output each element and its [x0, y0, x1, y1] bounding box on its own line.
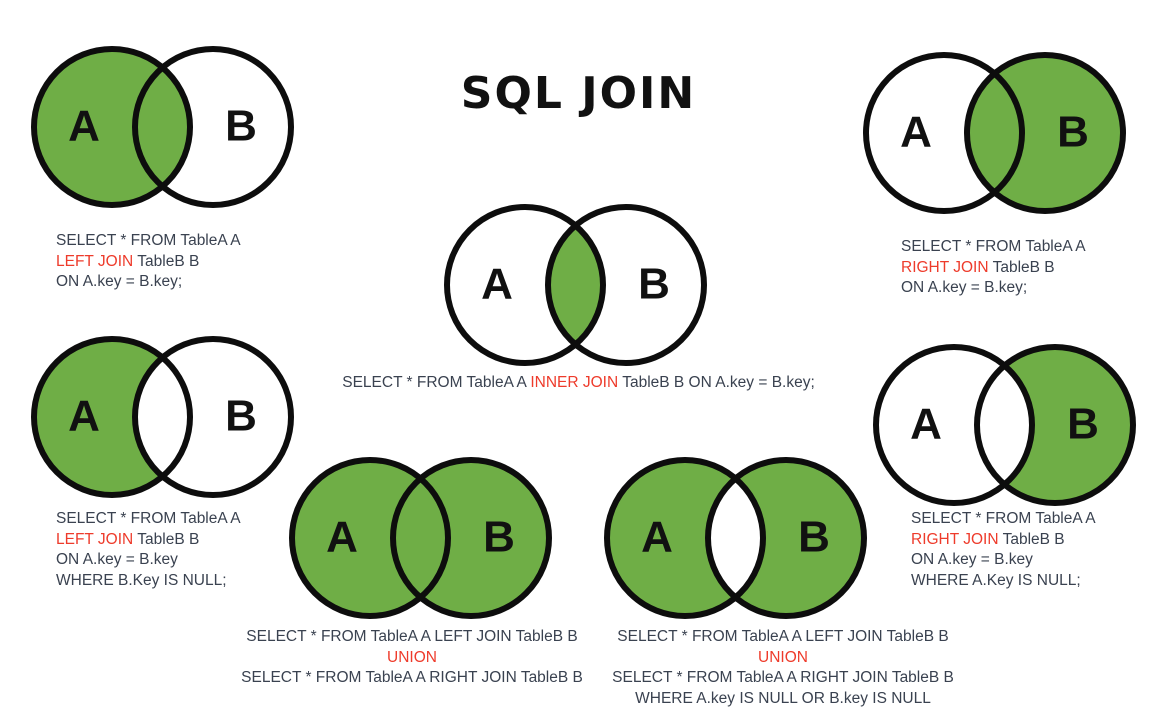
venn-left-excluding-join: AB	[30, 322, 295, 512]
sql-keyword: LEFT JOIN	[56, 531, 133, 548]
sql-keyword: LEFT JOIN	[56, 253, 133, 270]
sql-text: TableB B	[999, 531, 1065, 548]
set-label-a: A	[68, 102, 100, 151]
caption-line: SELECT * FROM TableA A RIGHT JOIN TableB…	[228, 668, 596, 689]
sql-text: WHERE A.Key IS NULL;	[911, 572, 1081, 589]
sql-text: ON A.key = B.key	[911, 551, 1033, 568]
set-label-a: A	[481, 260, 513, 309]
sql-keyword: RIGHT JOIN	[901, 259, 989, 276]
sql-keyword: INNER JOIN	[530, 374, 618, 391]
sql-text: SELECT * FROM TableA A RIGHT JOIN TableB…	[241, 669, 583, 686]
sql-join-infographic: SQL JOIN AB AB AB AB AB AB AB SELECT * F…	[0, 0, 1157, 716]
sql-text: ON A.key = B.key;	[56, 273, 182, 290]
sql-text: SELECT * FROM TableA A LEFT JOIN TableB …	[617, 628, 948, 645]
caption-line: ON A.key = B.key;	[56, 272, 241, 293]
sql-text: WHERE A.key IS NULL OR B.key IS NULL	[635, 690, 931, 707]
venn-full-outer-join: AB	[288, 443, 553, 633]
set-label-b: B	[638, 260, 670, 309]
caption-left-join: SELECT * FROM TableA ALEFT JOIN TableB B…	[56, 231, 241, 293]
set-label-a: A	[68, 392, 100, 441]
caption-full-outer-excluding-join: SELECT * FROM TableA A LEFT JOIN TableB …	[597, 627, 969, 709]
caption-line: SELECT * FROM TableA A	[56, 231, 241, 252]
sql-text: TableB B	[133, 253, 199, 270]
sql-text: SELECT * FROM TableA A	[901, 238, 1086, 255]
sql-text: TableB B	[989, 259, 1055, 276]
caption-line: WHERE A.Key IS NULL;	[911, 571, 1096, 592]
caption-line: WHERE A.key IS NULL OR B.key IS NULL	[597, 689, 969, 710]
caption-line: SELECT * FROM TableA A LEFT JOIN TableB …	[228, 627, 596, 648]
caption-line: SELECT * FROM TableA A INNER JOIN TableB…	[0, 373, 1157, 394]
venn-left-join: AB	[30, 32, 295, 222]
caption-right-excluding-join: SELECT * FROM TableA ARIGHT JOIN TableB …	[911, 509, 1096, 591]
set-label-b: B	[1067, 400, 1099, 449]
caption-line: ON A.key = B.key	[56, 550, 241, 571]
sql-text: SELECT * FROM TableA A	[342, 374, 530, 391]
caption-line: SELECT * FROM TableA A	[56, 509, 241, 530]
set-label-b: B	[798, 513, 830, 562]
caption-full-outer-join: SELECT * FROM TableA A LEFT JOIN TableB …	[228, 627, 596, 689]
sql-keyword: UNION	[387, 649, 437, 666]
set-label-b: B	[1057, 108, 1089, 157]
venn-inner-join: AB	[443, 190, 708, 380]
set-label-b: B	[225, 102, 257, 151]
sql-text: SELECT * FROM TableA A RIGHT JOIN TableB…	[612, 669, 954, 686]
caption-line: RIGHT JOIN TableB B	[911, 530, 1096, 551]
sql-text: SELECT * FROM TableA A LEFT JOIN TableB …	[246, 628, 577, 645]
caption-line: LEFT JOIN TableB B	[56, 530, 241, 551]
venn-full-outer-excluding-join: AB	[603, 443, 868, 633]
set-label-a: A	[910, 400, 942, 449]
sql-keyword: RIGHT JOIN	[911, 531, 999, 548]
sql-keyword: UNION	[758, 649, 808, 666]
caption-right-join: SELECT * FROM TableA ARIGHT JOIN TableB …	[901, 237, 1086, 299]
sql-text: ON A.key = B.key	[56, 551, 178, 568]
set-label-a: A	[641, 513, 673, 562]
sql-text: ON A.key = B.key;	[901, 279, 1027, 296]
caption-line: WHERE B.Key IS NULL;	[56, 571, 241, 592]
set-label-b: B	[483, 513, 515, 562]
sql-text: SELECT * FROM TableA A	[911, 510, 1096, 527]
venn-right-excluding-join: AB	[872, 330, 1137, 520]
sql-text: SELECT * FROM TableA A	[56, 232, 241, 249]
set-label-b: B	[225, 392, 257, 441]
caption-line: SELECT * FROM TableA A LEFT JOIN TableB …	[597, 627, 969, 648]
caption-line: ON A.key = B.key;	[901, 278, 1086, 299]
caption-line: RIGHT JOIN TableB B	[901, 258, 1086, 279]
sql-text: WHERE B.Key IS NULL;	[56, 572, 227, 589]
venn-right-join: AB	[862, 38, 1127, 228]
set-label-a: A	[900, 108, 932, 157]
caption-line: SELECT * FROM TableA A RIGHT JOIN TableB…	[597, 668, 969, 689]
set-label-a: A	[326, 513, 358, 562]
sql-text: TableB B ON A.key = B.key;	[618, 374, 815, 391]
caption-line: SELECT * FROM TableA A	[911, 509, 1096, 530]
caption-inner-join: SELECT * FROM TableA A INNER JOIN TableB…	[0, 373, 1157, 394]
sql-text: TableB B	[133, 531, 199, 548]
caption-line: LEFT JOIN TableB B	[56, 252, 241, 273]
caption-line: ON A.key = B.key	[911, 550, 1096, 571]
caption-line: SELECT * FROM TableA A	[901, 237, 1086, 258]
caption-line: UNION	[228, 648, 596, 669]
caption-line: UNION	[597, 648, 969, 669]
caption-left-excluding-join: SELECT * FROM TableA ALEFT JOIN TableB B…	[56, 509, 241, 591]
sql-text: SELECT * FROM TableA A	[56, 510, 241, 527]
